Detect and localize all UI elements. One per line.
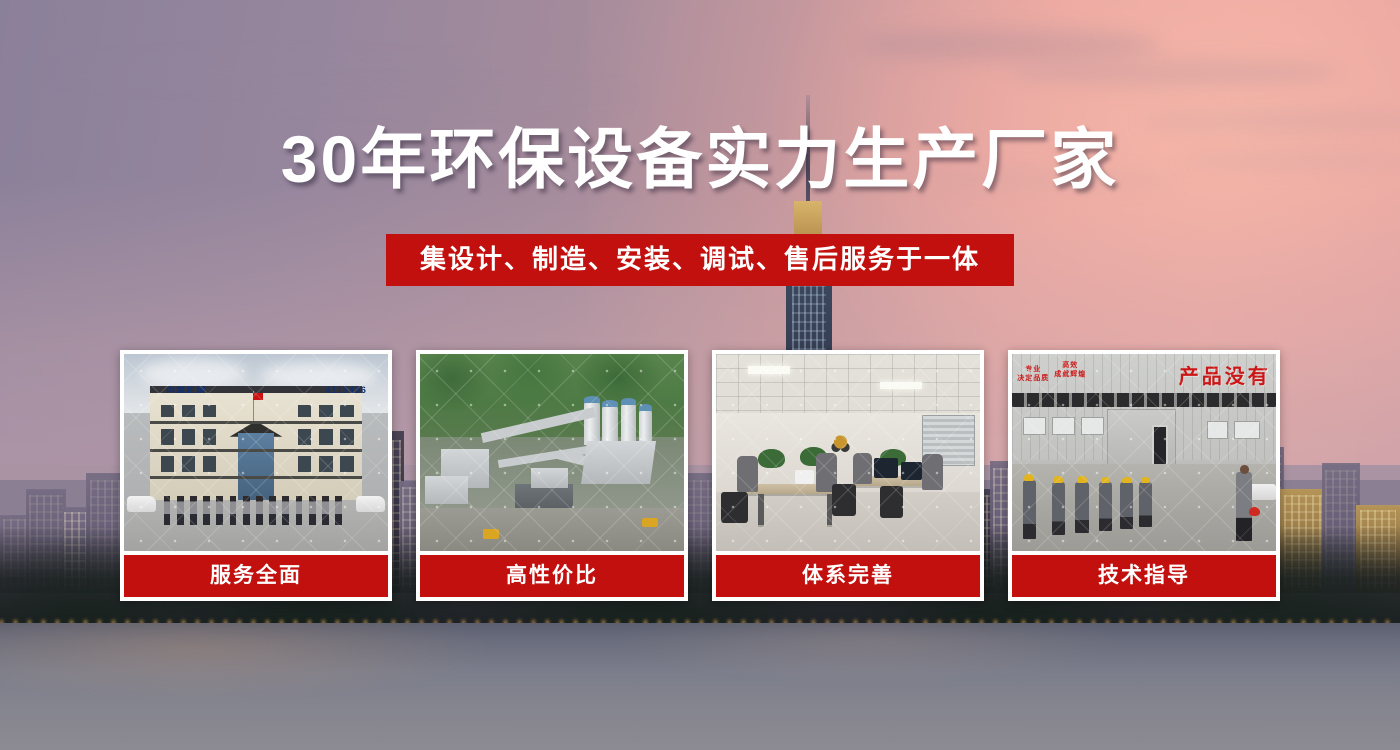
feature-card[interactable]: 高性价比 <box>416 350 688 601</box>
feature-card[interactable]: 中嘉机械 4113456 <box>120 350 392 601</box>
cloud-6 <box>60 58 480 84</box>
feature-card-row: 中嘉机械 4113456 <box>120 350 1280 601</box>
card-caption: 体系完善 <box>716 555 980 597</box>
feature-card[interactable]: 产品没有 专业 决定品质 高效 成就辉煌 <box>1008 350 1280 601</box>
cloud-1 <box>860 28 1160 62</box>
factory-slogan-2: 高效 成就辉煌 <box>1054 362 1086 380</box>
subtitle-container: 集设计、制造、安装、调试、售后服务于一体 <box>0 234 1400 286</box>
page-title: 30年环保设备实力生产厂家 <box>0 126 1400 192</box>
card-caption: 高性价比 <box>420 555 684 597</box>
subtitle-banner: 集设计、制造、安装、调试、售后服务于一体 <box>386 234 1014 286</box>
card-photo-industrial-plant <box>420 354 684 551</box>
feature-card[interactable]: 体系完善 <box>712 350 984 601</box>
card-photo-factory-workers: 产品没有 专业 决定品质 高效 成就辉煌 <box>1012 354 1276 551</box>
card-photo-office-building: 中嘉机械 4113456 <box>124 354 388 551</box>
cloud-2 <box>1010 58 1340 88</box>
factory-sign-text: 产品没有 <box>1179 360 1271 390</box>
card-caption: 服务全面 <box>124 555 388 597</box>
factory-slogan-1: 专业 决定品质 <box>1017 366 1049 384</box>
promo-banner: 30年环保设备实力生产厂家 集设计、制造、安装、调试、售后服务于一体 中嘉机械 … <box>0 0 1400 750</box>
card-caption: 技术指导 <box>1012 555 1276 597</box>
card-photo-office-interior <box>716 354 980 551</box>
river-reflections <box>0 623 1400 750</box>
cloud-7 <box>250 86 630 106</box>
